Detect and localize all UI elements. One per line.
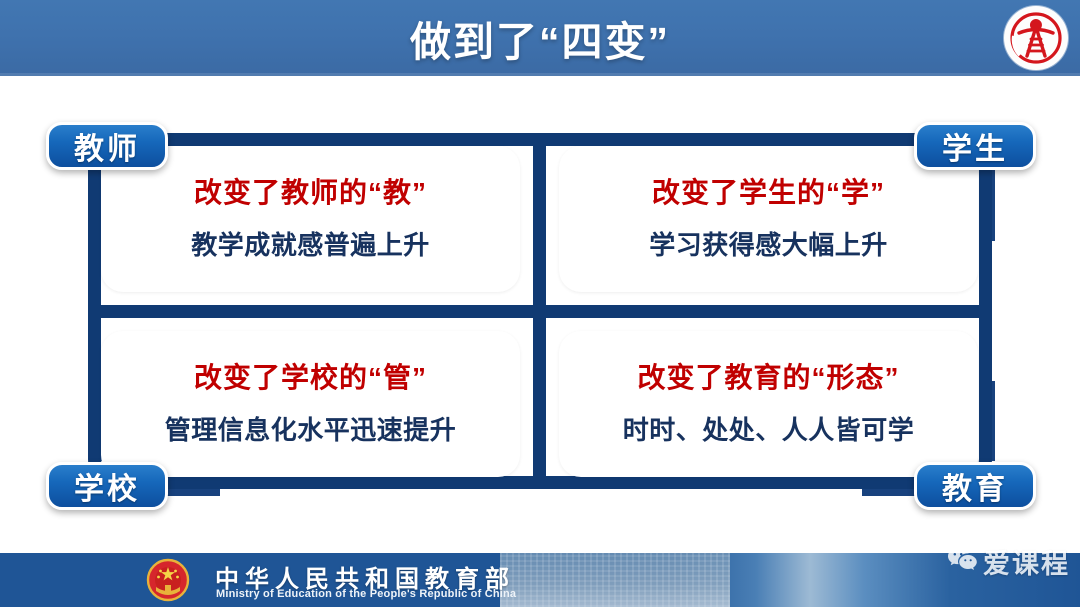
card-student-title: 改变了学生的“学” — [652, 171, 885, 211]
card-student: 改变了学生的“学” 学习获得感大幅上升 — [559, 146, 978, 292]
tower-circle-logo-icon — [1004, 6, 1068, 70]
label-education: 教育 — [914, 462, 1036, 510]
card-teacher: 改变了教师的“教” 教学成就感普遍上升 — [101, 146, 520, 292]
diagram-frame-divider-horizontal — [88, 305, 992, 318]
card-teacher-subtitle: 教学成就感普遍上升 — [191, 225, 430, 262]
wechat-watermark: 爱课程 — [947, 542, 1070, 581]
card-teacher-title: 改变了教师的“教” — [194, 171, 427, 211]
card-education-title: 改变了教育的“形态” — [637, 356, 899, 396]
four-changes-diagram: 改变了教师的“教” 教学成就感普遍上升 改变了学生的“学” 学习获得感大幅上升 … — [0, 76, 1080, 543]
label-school: 学校 — [46, 462, 168, 510]
national-emblem-icon — [145, 557, 191, 603]
card-school-title: 改变了学校的“管” — [194, 356, 427, 396]
card-school: 改变了学校的“管” 管理信息化水平迅速提升 — [101, 331, 520, 477]
label-teacher: 教师 — [46, 122, 168, 170]
card-education-subtitle: 时时、处处、人人皆可学 — [623, 410, 915, 447]
watermark-label: 爱课程 — [983, 542, 1070, 581]
footer-org-name-en: Ministry of Education of the People's Re… — [216, 588, 516, 600]
card-school-subtitle: 管理信息化水平迅速提升 — [165, 410, 457, 447]
slide: 做到了“四变” 改变了教师的“教” 教学成 — [0, 0, 1080, 607]
page-title: 做到了“四变” — [0, 0, 1080, 76]
label-student: 学生 — [914, 122, 1036, 170]
card-education: 改变了教育的“形态” 时时、处处、人人皆可学 — [559, 331, 978, 477]
ministry-building-photo — [500, 553, 730, 607]
footer-bar: 中华人民共和国教育部 Ministry of Education of the … — [0, 553, 1080, 607]
wechat-icon — [947, 546, 977, 577]
card-student-subtitle: 学习获得感大幅上升 — [649, 225, 888, 262]
